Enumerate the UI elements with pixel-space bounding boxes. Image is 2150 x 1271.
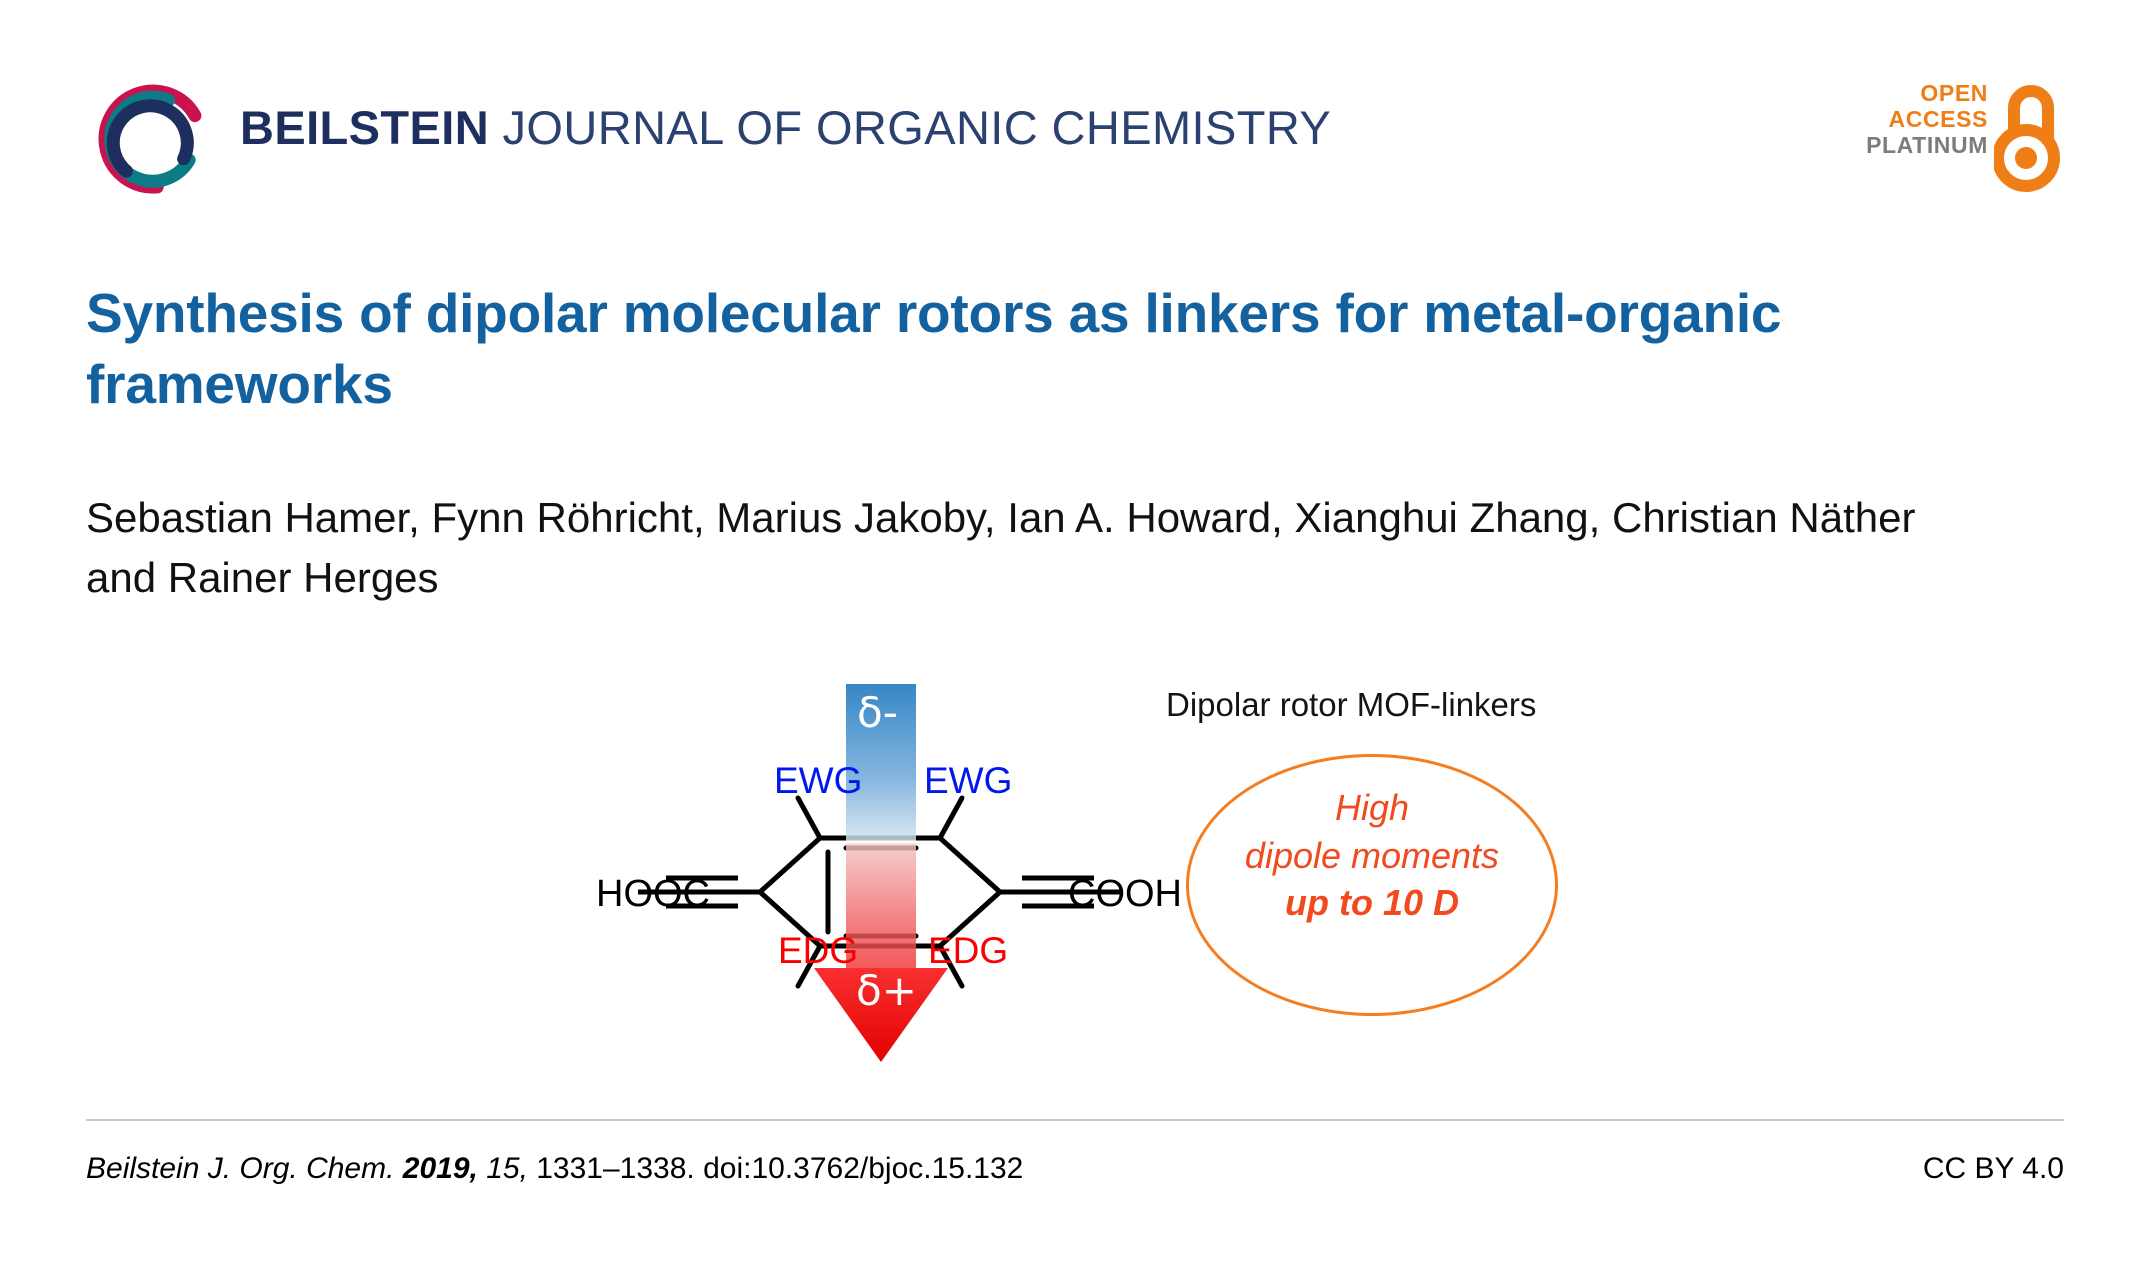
callout-line-1: High xyxy=(1186,784,1558,832)
open-access-line-access: ACCESS xyxy=(1866,106,1988,132)
label-edg-left: EDG xyxy=(778,932,858,969)
wordmark-beilstein: BEILSTEIN xyxy=(240,101,489,154)
license-label: CC BY 4.0 xyxy=(1923,1152,2064,1186)
callout-line-2: dipole moments xyxy=(1186,832,1558,880)
page-header: BEILSTEIN JOURNAL OF ORGANIC CHEMISTRY O… xyxy=(0,0,2150,210)
footer-divider xyxy=(86,1119,2064,1121)
callout-text: High dipole moments up to 10 D xyxy=(1186,784,1558,927)
wordmark-subtitle: JOURNAL OF ORGANIC CHEMISTRY xyxy=(489,101,1331,154)
article-title: Synthesis of dipolar molecular rotors as… xyxy=(86,278,1836,420)
citation-line: Beilstein J. Org. Chem. 2019, 15, 1331–1… xyxy=(86,1152,1023,1186)
delta-positive-label: δ+ xyxy=(856,970,917,1012)
callout-line-3: up to 10 D xyxy=(1186,879,1558,927)
citation-year: 2019, xyxy=(394,1152,477,1185)
label-edg-right: EDG xyxy=(928,932,1008,969)
article-authors: Sebastian Hamer, Fynn Röhricht, Marius J… xyxy=(86,488,1986,607)
abstract-callout-group: Dipolar rotor MOF-linkers High dipole mo… xyxy=(1158,670,1618,1100)
label-hooc: HOOC xyxy=(596,875,710,913)
graphical-abstract: HOOC COOH EWG EWG EDG EDG δ- δ+ Dipolar … xyxy=(560,670,1610,1100)
beilstein-spiral-logo-icon xyxy=(88,78,206,196)
label-ewg-right: EWG xyxy=(924,762,1012,799)
open-padlock-icon xyxy=(1994,82,2062,192)
open-access-text: OPEN ACCESS PLATINUM xyxy=(1866,80,1988,159)
citation-pages-doi: 1331–1338. doi:10.3762/bjoc.15.132 xyxy=(528,1152,1023,1185)
mof-linkers-caption: Dipolar rotor MOF-linkers xyxy=(1166,686,1536,724)
open-access-line-open: OPEN xyxy=(1866,80,1988,106)
label-ewg-left: EWG xyxy=(774,762,862,799)
delta-negative-label: δ- xyxy=(857,692,898,734)
citation-journal: Beilstein J. Org. Chem. xyxy=(86,1152,394,1185)
molecular-scheme: HOOC COOH EWG EWG EDG EDG δ- δ+ xyxy=(560,670,1200,1100)
journal-wordmark: BEILSTEIN JOURNAL OF ORGANIC CHEMISTRY xyxy=(240,104,1331,151)
open-access-badge: OPEN ACCESS PLATINUM xyxy=(1872,80,2062,200)
citation-volume: 15, xyxy=(478,1152,528,1185)
open-access-line-platinum: PLATINUM xyxy=(1866,132,1988,158)
